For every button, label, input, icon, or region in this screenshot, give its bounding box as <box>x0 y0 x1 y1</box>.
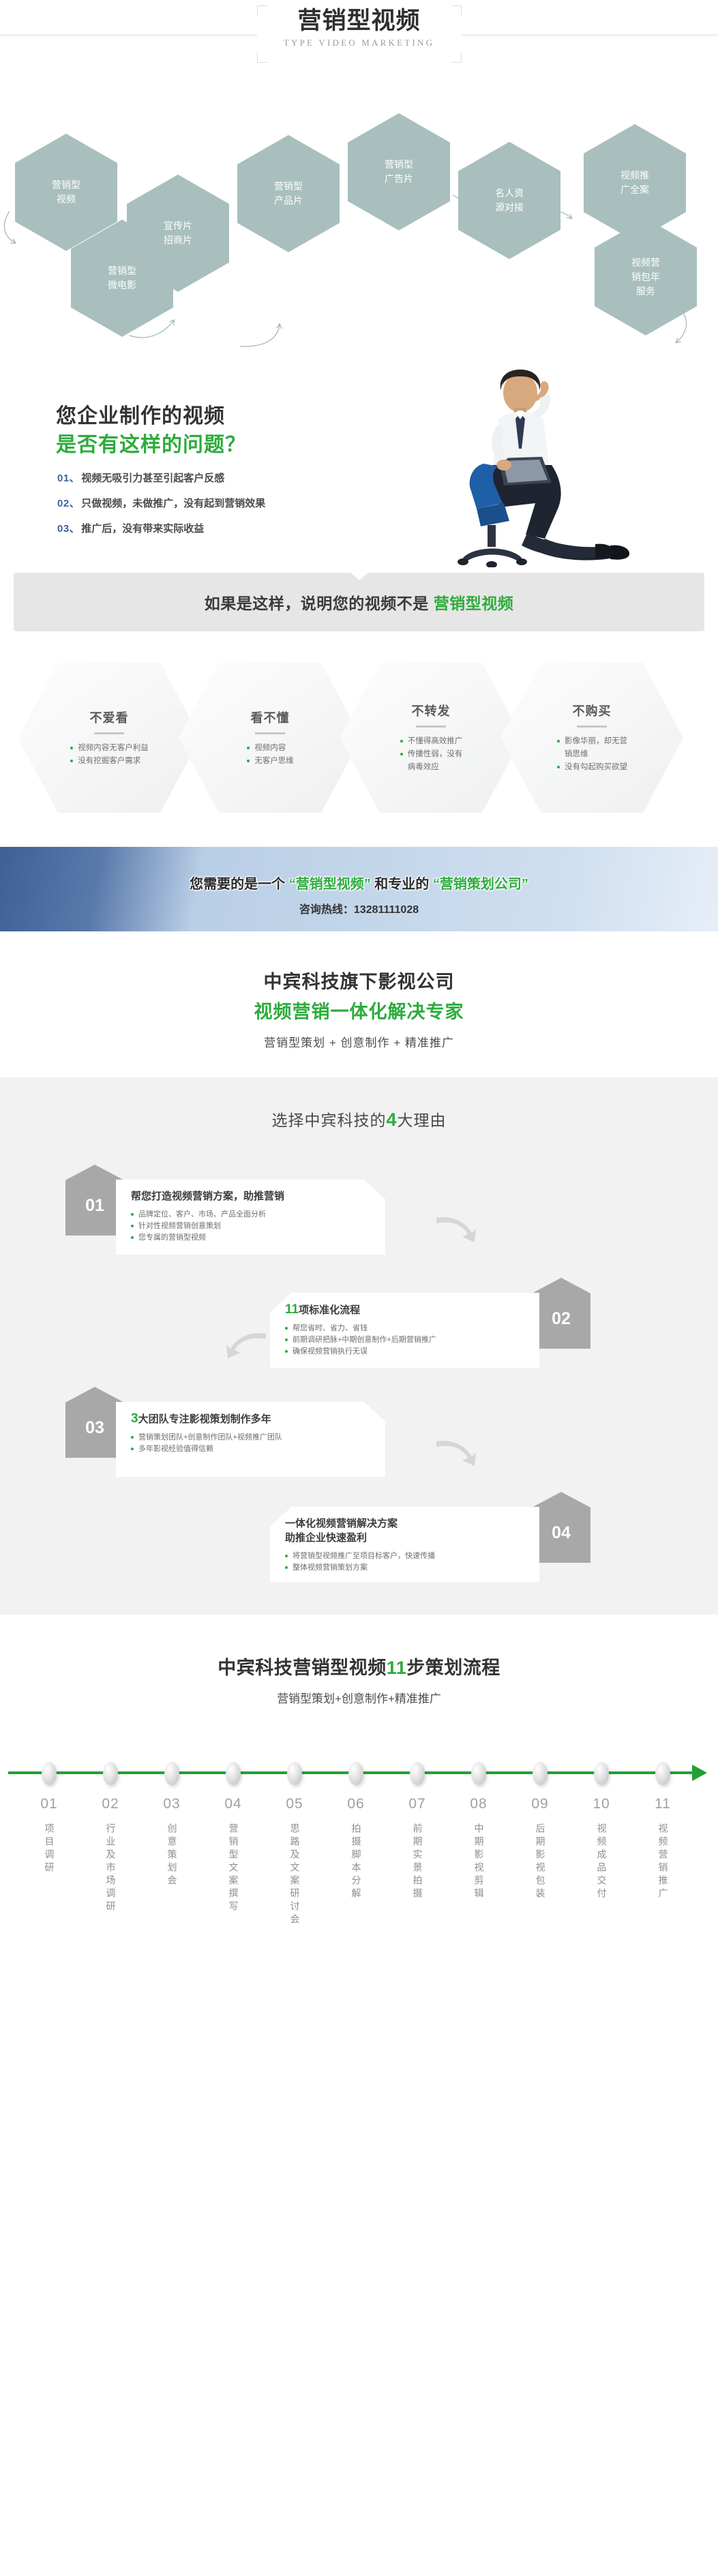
timeline-step-number: 06 <box>325 1796 387 1812</box>
problem-hex-3-rule <box>416 725 446 728</box>
question-section: 您企业制作的视频 是否有这样的问题？ 01、 视频无吸引力甚至引起客户反感 02… <box>0 348 718 573</box>
timeline-step-label: 行业及市场调研 <box>102 1823 119 1914</box>
reason-card-01-lines: 品牌定位、客户、市场、产品全面分析 针对性视频营销创意策划 您专属的营销型视频 <box>131 1209 374 1244</box>
timeline-step-number: 05 <box>263 1796 326 1812</box>
problem-bullet: 视频内容无客户利益 <box>70 742 149 755</box>
insight-banner-plain: 如果是这样，说明您的视频不是 <box>205 595 434 612</box>
reason-line: 帮您省时、省力、省钱 <box>285 1323 528 1334</box>
timeline-dot-icon <box>594 1762 609 1785</box>
reason-card-04-body: 一体化视频营销解决方案 助推企业快速盈利 将营销型视频推广至项目标客户，快速传播… <box>270 1507 539 1582</box>
reason-card-02-title: 11项标准化流程 <box>285 1302 528 1317</box>
company-tagline: 视频营销一体化解决专家 <box>0 997 718 1023</box>
problem-bullet: 无客户思维 <box>246 755 294 768</box>
hex-service-2-label: 宣传片 招商片 <box>154 219 202 248</box>
timeline-step-04[interactable]: 04 营销型文案撰写 <box>202 1736 265 1917</box>
steps-heading-pre: 中宾科技营销型视频 <box>218 1658 387 1678</box>
question-list: 01、 视频无吸引力甚至引起客户反感 02、 只做视频，未做推广，没有起到营销效… <box>57 470 265 546</box>
timeline-step-number: 11 <box>631 1796 694 1812</box>
timeline-step-label: 后期影视包装 <box>532 1823 549 1901</box>
reasons-heading: 选择中宾科技的4大理由 <box>0 1107 718 1130</box>
timeline-step-number: 07 <box>386 1796 449 1812</box>
steps-heading-number: 11 <box>387 1658 407 1678</box>
page-title: 营销型视频 <box>0 7 718 35</box>
steps-heading-post: 步策划流程 <box>406 1658 500 1678</box>
company-name: 中宾科技旗下影视公司 <box>0 967 718 993</box>
timeline-step-number: 02 <box>79 1796 142 1812</box>
cta-quote1: “营销型视频” <box>289 877 371 892</box>
hex-service-8-label: 视频营 销包年 服务 <box>622 256 670 299</box>
reasons-heading-pre: 选择中宾科技的 <box>271 1111 386 1129</box>
question-title-line1: 您企业制作的视频 <box>56 399 225 429</box>
question-title-line2: 是否有这样的问题？ <box>56 428 246 458</box>
timeline-step-label: 视频成品交付 <box>593 1823 610 1901</box>
steps-section: 中宾科技营销型视频11步策划流程 营销型策划+创意制作+精准推广 01 项目调研… <box>0 1615 718 1961</box>
insight-banner-text: 如果是这样，说明您的视频不是 营销型视频 <box>205 590 513 614</box>
problem-hex-3[interactable]: 不转发 不懂得高效推广 传播性弱，没有 病毒效应 <box>340 663 522 813</box>
question-item-number: 03、 <box>57 521 80 535</box>
company-services: 营销型策划 + 创意制作 + 精准推广 <box>0 1033 718 1050</box>
reason-card-02-badge: 02 <box>532 1278 590 1349</box>
problem-bullet-cont: 销思维 <box>556 748 627 761</box>
reason-card-03-badge: 03 <box>65 1387 124 1458</box>
timeline-step-label: 拍摄脚本分解 <box>348 1823 365 1901</box>
hotline[interactable]: 咨询热线：13281111028 <box>0 900 718 916</box>
timeline-step-06[interactable]: 06 拍摄脚本分解 <box>325 1736 387 1904</box>
steps-heading: 中宾科技营销型视频11步策划流程 <box>0 1653 718 1679</box>
page-subtitle: TYPE VIDEO MARKETING <box>0 38 718 48</box>
problem-hex-4[interactable]: 不购买 影像华丽，却无营 销思维 没有勾起购买欲望 <box>500 663 683 813</box>
timeline-step-number: 03 <box>140 1796 203 1812</box>
problem-bullet: 传播性弱，没有 <box>400 748 463 761</box>
reasons-heading-post: 大理由 <box>398 1111 447 1129</box>
problem-hex-2-title: 看不懂 <box>251 708 290 726</box>
cta-headline: 您需要的是一个 “营销型视频” 和专业的 “营销策划公司” <box>0 873 718 893</box>
reasons-section: 选择中宾科技的4大理由 01 帮您打造视频营销方案，助推营销 品牌定位、客户、市… <box>0 1077 718 1615</box>
timeline-dot-icon <box>287 1762 302 1785</box>
hex-service-6-label: 视频推 广全案 <box>611 168 659 197</box>
timeline-step-07[interactable]: 07 前期实景拍摄 <box>386 1736 449 1904</box>
reason-title-text: 帮您打造视频营销方案，助推营销 <box>131 1190 284 1202</box>
reason-card-03[interactable]: 03 3大团队专注影视策划制作多年 营销策划团队+创意制作团队+视频推广团队 多… <box>65 1387 386 1477</box>
services-hexagon-grid: 营销型 视频 营销型 微电影 宣传片 招商片 营销型 产品片 营销型 广告片 名… <box>0 95 718 348</box>
timeline-dot-icon <box>471 1762 486 1785</box>
cta-part1: 您需要的是一个 <box>190 877 289 892</box>
timeline-step-label: 视频营销推广 <box>655 1823 672 1901</box>
cta-part2: 和专业的 <box>371 877 433 892</box>
reason-card-03-body: 3大团队专注影视策划制作多年 营销策划团队+创意制作团队+视频推广团队 多年影视… <box>116 1402 385 1477</box>
problem-hex-4-rule <box>577 725 607 728</box>
timeline-dot-icon <box>103 1762 118 1785</box>
reasons-heading-number: 4 <box>386 1109 397 1130</box>
reason-title-number: 3 <box>131 1411 138 1426</box>
problem-bullet: 没有勾起购买欲望 <box>556 761 627 774</box>
timeline-step-01[interactable]: 01 项目调研 <box>18 1736 80 1878</box>
reason-card-02[interactable]: 02 11项标准化流程 帮您省时、省力、省钱 前期调研把脉+中期创意制作+后期营… <box>270 1278 590 1368</box>
steps-timeline: 01 项目调研 02 行业及市场调研 03 创意策划会 04 营销型文案撰写 0… <box>0 1736 718 1941</box>
reason-line: 营销策划团队+创意制作团队+视频推广团队 <box>131 1432 374 1443</box>
timeline-dot-icon <box>164 1762 179 1785</box>
timeline-step-label: 创意策划会 <box>164 1823 181 1888</box>
timeline-arrow-icon <box>692 1765 707 1781</box>
hex-service-3-label: 营销型 产品片 <box>265 179 312 208</box>
timeline-step-label: 营销型文案撰写 <box>225 1823 242 1914</box>
timeline-step-label: 项目调研 <box>41 1823 58 1875</box>
businessman-photo <box>418 363 643 567</box>
insight-banner: 如果是这样，说明您的视频不是 营销型视频 <box>14 573 704 631</box>
hotline-label: 咨询热线： <box>299 904 354 916</box>
problem-hex-3-list: 不懂得高效推广 传播性弱，没有 病毒效应 <box>400 735 463 774</box>
banner-notch-icon <box>350 573 368 580</box>
reason-card-01-badge: 01 <box>65 1165 124 1235</box>
problem-hex-2-list: 视频内容 无客户思维 <box>246 742 294 768</box>
hotline-number: 13281111028 <box>354 904 419 916</box>
timeline-step-10[interactable]: 10 视频成品交付 <box>570 1736 633 1904</box>
timeline-step-number: 08 <box>447 1796 510 1812</box>
hex-service-4-label: 营销型 广告片 <box>375 158 423 186</box>
problem-hex-1[interactable]: 不爱看 视频内容无客户利益 没有挖掘客户需求 <box>18 663 200 813</box>
timeline-step-number: 01 <box>18 1796 80 1812</box>
reason-line: 确保视频营销执行无误 <box>285 1346 528 1358</box>
question-item-text: 推广后，没有带来实际收益 <box>81 521 204 535</box>
reason-line: 将营销型视频推广至项目标客户，快速传播 <box>285 1551 528 1562</box>
problem-bullet: 不懂得高效推广 <box>400 735 463 748</box>
reason-title-text: 大团队专注影视策划制作多年 <box>138 1413 271 1425</box>
question-item: 01、 视频无吸引力甚至引起客户反感 <box>57 470 265 485</box>
reason-line: 针对性视频营销创意策划 <box>131 1220 374 1232</box>
timeline-dot-icon <box>655 1762 670 1785</box>
cta-banner: 您需要的是一个 “营销型视频” 和专业的 “营销策划公司” 咨询热线：13281… <box>0 847 718 931</box>
hex-service-8[interactable]: 视频营 销包年 服务 <box>595 218 697 335</box>
reason-card-03-lines: 营销策划团队+创意制作团队+视频推广团队 多年影视经验值得信赖 <box>131 1432 374 1455</box>
timeline-step-09[interactable]: 09 后期影视包装 <box>509 1736 571 1904</box>
reason-card-04-title: 一体化视频营销解决方案 助推企业快速盈利 <box>285 1516 528 1545</box>
problem-bullet-cont: 病毒效应 <box>400 761 463 774</box>
timeline-step-11[interactable]: 11 视频营销推广 <box>631 1736 694 1904</box>
reason-card-04[interactable]: 04 一体化视频营销解决方案 助推企业快速盈利 将营销型视频推广至项目标客户，快… <box>270 1492 590 1582</box>
timeline-step-number: 10 <box>570 1796 633 1812</box>
reason-card-04-badge: 04 <box>532 1492 590 1563</box>
problem-hex-4-title: 不购买 <box>573 702 612 719</box>
timeline-dot-icon <box>348 1762 363 1785</box>
timeline-dot-icon <box>226 1762 241 1785</box>
problem-hex-1-list: 视频内容无客户利益 没有挖掘客户需求 <box>70 742 149 768</box>
cta-quote2: “营销策划公司” <box>433 877 528 892</box>
timeline-step-number: 04 <box>202 1796 265 1812</box>
question-item-number: 02、 <box>57 496 80 510</box>
reason-title-text: 项标准化流程 <box>299 1304 360 1316</box>
question-item-text: 视频无吸引力甚至引起客户反感 <box>81 470 224 485</box>
hex-service-4[interactable]: 营销型 广告片 <box>348 113 450 230</box>
reason-title-text: 一体化视频营销解决方案 助推企业快速盈利 <box>285 1518 398 1544</box>
hex-service-6[interactable]: 视频推 广全案 <box>584 124 686 241</box>
landing-page: 营销型视频 TYPE VIDEO MARKETING 营销型 视频 营销型 微电… <box>0 0 718 1961</box>
timeline-step-08[interactable]: 08 中期影视剪辑 <box>447 1736 510 1904</box>
question-item-number: 01、 <box>57 470 80 485</box>
timeline-step-label: 思路及文案研讨会 <box>286 1823 303 1927</box>
reason-card-01[interactable]: 01 帮您打造视频营销方案，助推营销 品牌定位、客户、市场、产品全面分析 针对性… <box>65 1165 386 1255</box>
reason-line: 前期调研把脉+中期创意制作+后期营销推广 <box>285 1334 528 1346</box>
timeline-step-03[interactable]: 03 创意策划会 <box>140 1736 203 1891</box>
reason-arrow-2-icon <box>225 1330 267 1360</box>
question-item-text: 只做视频，未做推广，没有起到营销效果 <box>81 496 265 510</box>
timeline-step-02[interactable]: 02 行业及市场调研 <box>79 1736 142 1917</box>
problem-bullet: 没有挖掘客户需求 <box>70 755 149 768</box>
steps-subheading: 营销型策划+创意制作+精准推广 <box>0 1689 718 1706</box>
question-item: 03、 推广后，没有带来实际收益 <box>57 521 265 535</box>
reason-card-01-title: 帮您打造视频营销方案，助推营销 <box>131 1189 374 1203</box>
problem-bullet: 视频内容 <box>246 742 294 755</box>
hex-service-3[interactable]: 营销型 产品片 <box>237 135 340 252</box>
timeline-dot-icon <box>533 1762 548 1785</box>
hex-service-1-label: 营销型 视频 <box>42 178 90 207</box>
hex-service-5[interactable]: 名人资 源对接 <box>458 142 560 259</box>
insight-banner-accent: 营销型视频 <box>434 595 514 612</box>
page-header: 营销型视频 TYPE VIDEO MARKETING <box>0 0 718 95</box>
reason-title-number: 11 <box>285 1302 299 1317</box>
reason-card-04-lines: 将营销型视频推广至项目标客户，快速传播 整体视频营销策划方案 <box>285 1551 528 1574</box>
question-item: 02、 只做视频，未做推广，没有起到营销效果 <box>57 496 265 510</box>
problem-hex-3-title: 不转发 <box>412 702 451 719</box>
reason-line: 您专属的营销型视频 <box>131 1232 374 1244</box>
timeline-dot-icon <box>42 1762 57 1785</box>
problem-bullet: 影像华丽，却无营 <box>556 735 627 748</box>
timeline-step-label: 前期实景拍摄 <box>409 1823 426 1901</box>
reason-card-01-body: 帮您打造视频营销方案，助推营销 品牌定位、客户、市场、产品全面分析 针对性视频营… <box>116 1180 385 1255</box>
problem-hex-4-list: 影像华丽，却无营 销思维 没有勾起购买欲望 <box>556 735 627 774</box>
reason-card-02-lines: 帮您省时、省力、省钱 前期调研把脉+中期创意制作+后期营销推广 确保视频营销执行… <box>285 1323 528 1358</box>
reason-line: 多年影视经验值得信赖 <box>131 1443 374 1455</box>
problem-hex-1-title: 不爱看 <box>90 708 129 726</box>
reason-card-03-title: 3大团队专注影视策划制作多年 <box>131 1411 374 1426</box>
problem-hexagons: 不爱看 视频内容无客户利益 没有挖掘客户需求 看不懂 视频内容 无客户思维 不转… <box>0 663 718 820</box>
problem-hex-2-rule <box>255 732 285 734</box>
timeline-step-label: 中期影视剪辑 <box>470 1823 488 1901</box>
reason-card-02-body: 11项标准化流程 帮您省时、省力、省钱 前期调研把脉+中期创意制作+后期营销推广… <box>270 1293 539 1368</box>
company-section: 中宾科技旗下影视公司 视频营销一体化解决专家 营销型策划 + 创意制作 + 精准… <box>0 931 718 1050</box>
hex-service-5-label: 名人资 源对接 <box>485 186 533 215</box>
reason-arrow-3-icon <box>435 1437 477 1467</box>
timeline-step-05[interactable]: 05 思路及文案研讨会 <box>263 1736 326 1930</box>
timeline-dot-icon <box>410 1762 425 1785</box>
reason-arrow-1-icon <box>435 1214 477 1244</box>
reason-line: 品牌定位、客户、市场、产品全面分析 <box>131 1209 374 1220</box>
problem-hex-2[interactable]: 看不懂 视频内容 无客户思维 <box>179 663 361 813</box>
reason-line: 整体视频营销策划方案 <box>285 1562 528 1574</box>
problem-hex-1-rule <box>94 732 124 734</box>
reasons-list: 01 帮您打造视频营销方案，助推营销 品牌定位、客户、市场、产品全面分析 针对性… <box>0 1151 718 1574</box>
timeline-step-number: 09 <box>509 1796 571 1812</box>
